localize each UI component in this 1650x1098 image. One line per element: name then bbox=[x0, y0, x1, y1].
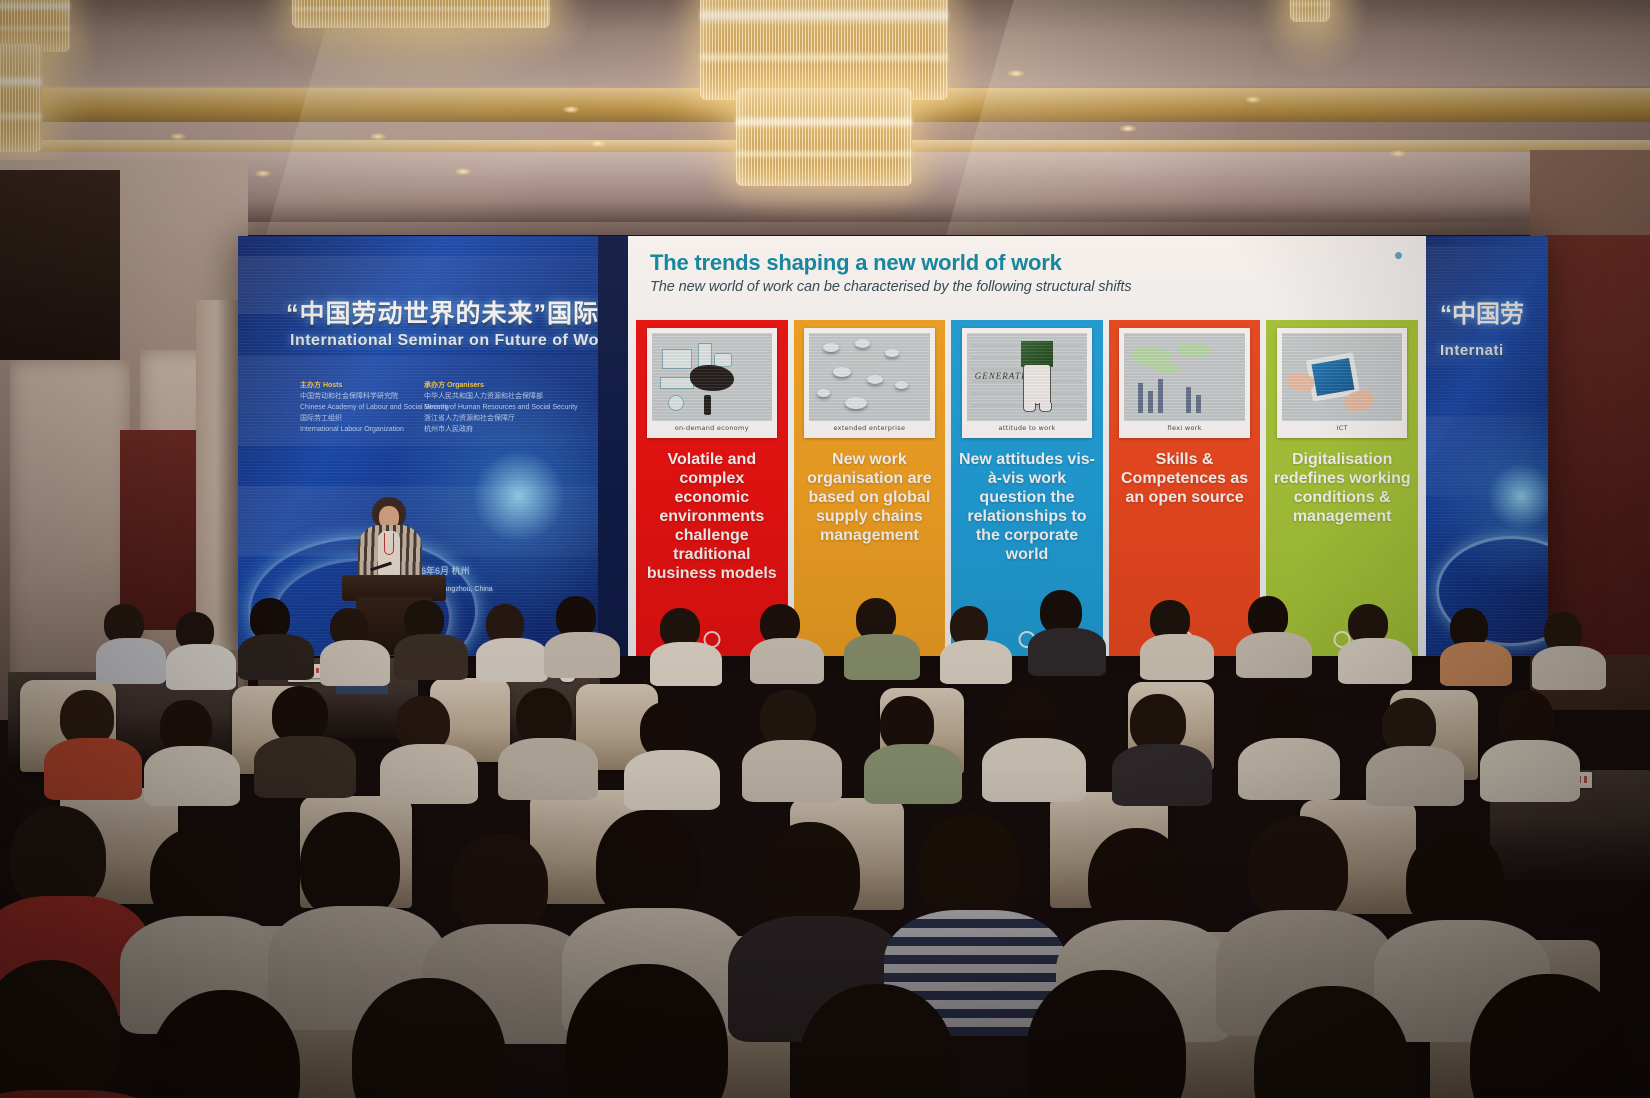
downlight bbox=[255, 170, 271, 177]
organizer-item: 浙江省人力资源和社会保障厅 bbox=[424, 413, 578, 424]
audience-member bbox=[950, 606, 1002, 678]
downlight bbox=[590, 140, 606, 147]
audience-member bbox=[0, 960, 150, 1098]
audience-member bbox=[352, 978, 538, 1098]
organizers-right-heading: 承办方 Organisers bbox=[424, 380, 578, 391]
audience-member bbox=[60, 690, 130, 790]
trend-photo-frame: flexi work bbox=[1119, 328, 1249, 438]
slide-dot-mark bbox=[1395, 252, 1402, 259]
trend-caption-5: ICT bbox=[1282, 421, 1402, 436]
audience-member bbox=[396, 696, 466, 794]
audience-member bbox=[1254, 986, 1442, 1098]
organizer-item: Ministry of Human Resources and Social S… bbox=[424, 402, 578, 413]
seminar-chinese-title-right: “中国劳 bbox=[1440, 294, 1524, 329]
audience-member bbox=[250, 598, 304, 674]
audience-member bbox=[330, 608, 382, 678]
audience-member bbox=[566, 964, 762, 1098]
audience-member bbox=[150, 990, 330, 1098]
conference-hall-scene: “中国劳动世界的未来”国际研讨会 International Seminar o… bbox=[0, 0, 1650, 1098]
slide-subtitle: The new world of work can be characteris… bbox=[650, 279, 1416, 295]
chandelier bbox=[1290, 0, 1330, 40]
chandelier bbox=[700, 0, 948, 200]
downlight bbox=[1120, 125, 1136, 132]
trend-photo-frame: GENERATION attitude to work bbox=[962, 328, 1092, 438]
trend-caption-3: attitude to work bbox=[967, 421, 1087, 436]
audience-member bbox=[1248, 596, 1302, 672]
audience-member bbox=[160, 700, 230, 796]
seminar-english-title-right: Internati bbox=[1440, 342, 1504, 359]
audience-member bbox=[176, 612, 230, 682]
audience-member bbox=[1000, 686, 1074, 790]
trend-caption-4: flexi work bbox=[1124, 421, 1244, 436]
downlight bbox=[1008, 70, 1024, 77]
trend-text-4: Skills & Competences as an open source bbox=[1115, 450, 1254, 507]
dark-doorway bbox=[0, 170, 120, 360]
audience-member bbox=[104, 604, 160, 678]
chandelier bbox=[292, 0, 550, 48]
on-demand-economy-illustration bbox=[652, 333, 772, 421]
organizer-item: 中华人民共和国人力资源和社会保障部 bbox=[424, 391, 578, 402]
organizer-item: 杭州市人民政府 bbox=[424, 424, 578, 435]
trend-photo-frame: on-demand economy bbox=[647, 328, 777, 438]
audience-member bbox=[404, 600, 458, 674]
downlight bbox=[370, 133, 386, 140]
audience-member bbox=[1470, 974, 1650, 1098]
audience-member bbox=[880, 696, 950, 794]
slide-header: The trends shaping a new world of work T… bbox=[650, 250, 1416, 295]
audience-member bbox=[556, 596, 610, 672]
trend-caption-1: on-demand economy bbox=[652, 421, 772, 436]
downlight bbox=[563, 106, 579, 113]
downlight bbox=[170, 133, 186, 140]
audience-member bbox=[10, 806, 130, 986]
world-map-data-illustration bbox=[1124, 333, 1244, 421]
trend-text-5: Digitalisation redefines working conditi… bbox=[1272, 450, 1411, 526]
speaker-lanyard bbox=[384, 533, 394, 555]
audience-member bbox=[1498, 690, 1570, 790]
downlight bbox=[1245, 96, 1261, 103]
audience-member bbox=[1348, 604, 1402, 678]
trend-caption-2: extended enterprise bbox=[809, 421, 929, 436]
audience-member bbox=[856, 598, 910, 674]
audience-member bbox=[1150, 600, 1204, 674]
audience-member bbox=[1544, 612, 1596, 684]
audience-member bbox=[272, 686, 344, 788]
audience-member bbox=[1130, 694, 1202, 794]
organizers-right-block: 承办方 Organisers 中华人民共和国人力资源和社会保障部 Ministr… bbox=[424, 380, 578, 435]
audience-member bbox=[760, 690, 832, 790]
audience-member bbox=[150, 828, 268, 1004]
audience-member bbox=[486, 604, 538, 676]
downlight bbox=[1390, 150, 1406, 157]
audience-member bbox=[1256, 688, 1328, 790]
trend-photo-frame: ICT bbox=[1277, 328, 1407, 438]
tablet-in-hands-illustration bbox=[1282, 333, 1402, 421]
generation-sketch-illustration: GENERATION bbox=[967, 333, 1087, 421]
chandelier bbox=[0, 0, 70, 172]
audience-member bbox=[1382, 698, 1452, 796]
downlight bbox=[455, 168, 471, 175]
audience-member bbox=[1450, 608, 1502, 680]
audience-member bbox=[798, 984, 988, 1098]
trend-text-2: New work organisation are based on globa… bbox=[800, 450, 939, 545]
audience-member bbox=[660, 608, 714, 680]
audience-area bbox=[0, 560, 1650, 1098]
slide-title: The trends shaping a new world of work bbox=[650, 250, 1416, 276]
audience-member bbox=[760, 822, 886, 1008]
audience-member bbox=[1026, 970, 1218, 1098]
audience-member bbox=[1040, 590, 1096, 670]
seminar-chinese-title: “中国劳动世界的未来”国际研讨会 bbox=[286, 294, 598, 330]
trend-photo-frame: extended enterprise bbox=[804, 328, 934, 438]
trend-text-3: New attitudes vis-à-vis work question th… bbox=[957, 450, 1096, 564]
audience-member bbox=[1248, 816, 1374, 1002]
audience-member bbox=[760, 604, 814, 678]
audience-member bbox=[300, 812, 426, 996]
seminar-english-title: International Seminar on Future of Work … bbox=[290, 332, 598, 350]
audience-member bbox=[640, 702, 710, 798]
audience-member bbox=[516, 688, 588, 788]
network-nodes-illustration bbox=[809, 333, 929, 421]
